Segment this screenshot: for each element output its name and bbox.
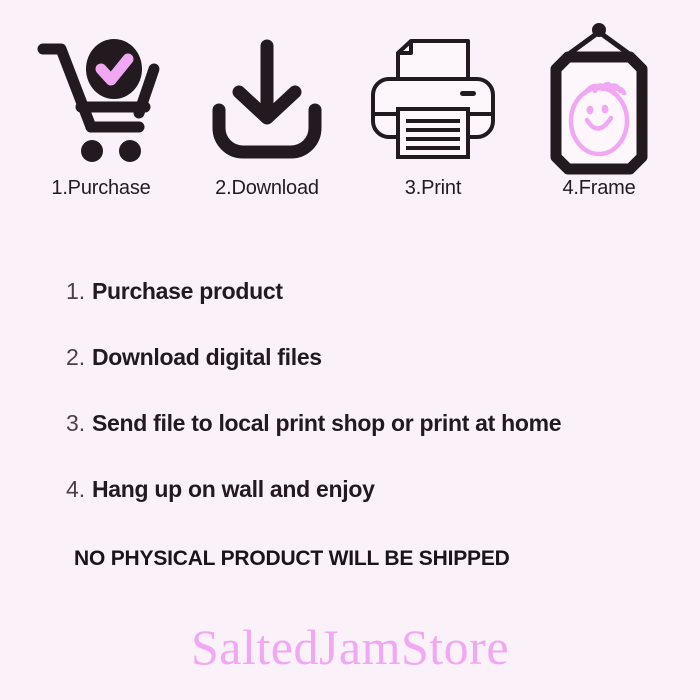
- list-item-text: Send file to local print shop or print a…: [92, 410, 561, 437]
- shop-brand-name: SaltedJamStore: [0, 618, 700, 676]
- step-label: 4.Frame: [562, 177, 635, 200]
- list-item-number: 3.: [66, 410, 92, 437]
- list-item-number: 2.: [66, 344, 92, 371]
- instructions-list: 1. Purchase product 2. Download digital …: [66, 278, 666, 542]
- step-print: 3.Print: [358, 24, 508, 200]
- printer-icon: [368, 24, 498, 174]
- shopping-cart-check-icon: [35, 24, 167, 174]
- step-download: 2.Download: [192, 24, 342, 200]
- list-item-number: 1.: [66, 278, 92, 305]
- list-item: 4. Hang up on wall and enjoy: [66, 476, 666, 542]
- no-physical-product-disclaimer: NO PHYSICAL PRODUCT WILL BE SHIPPED: [74, 547, 510, 571]
- list-item: 3. Send file to local print shop or prin…: [66, 410, 666, 476]
- list-item-text: Download digital files: [92, 344, 322, 371]
- step-label: 1.Purchase: [51, 177, 150, 200]
- list-item-text: Hang up on wall and enjoy: [92, 476, 375, 503]
- step-label: 3.Print: [405, 177, 461, 200]
- step-frame: 4.Frame: [524, 24, 674, 200]
- steps-icon-strip: 1.Purchase 2.Download: [0, 0, 700, 200]
- list-item-number: 4.: [66, 476, 92, 503]
- list-item-text: Purchase product: [92, 278, 283, 305]
- list-item: 2. Download digital files: [66, 344, 666, 410]
- step-purchase: 1.Purchase: [26, 24, 176, 200]
- list-item: 1. Purchase product: [66, 278, 666, 344]
- download-arrow-tray-icon: [208, 24, 326, 174]
- hanging-picture-frame-icon: [540, 24, 658, 174]
- step-label: 2.Download: [215, 177, 319, 200]
